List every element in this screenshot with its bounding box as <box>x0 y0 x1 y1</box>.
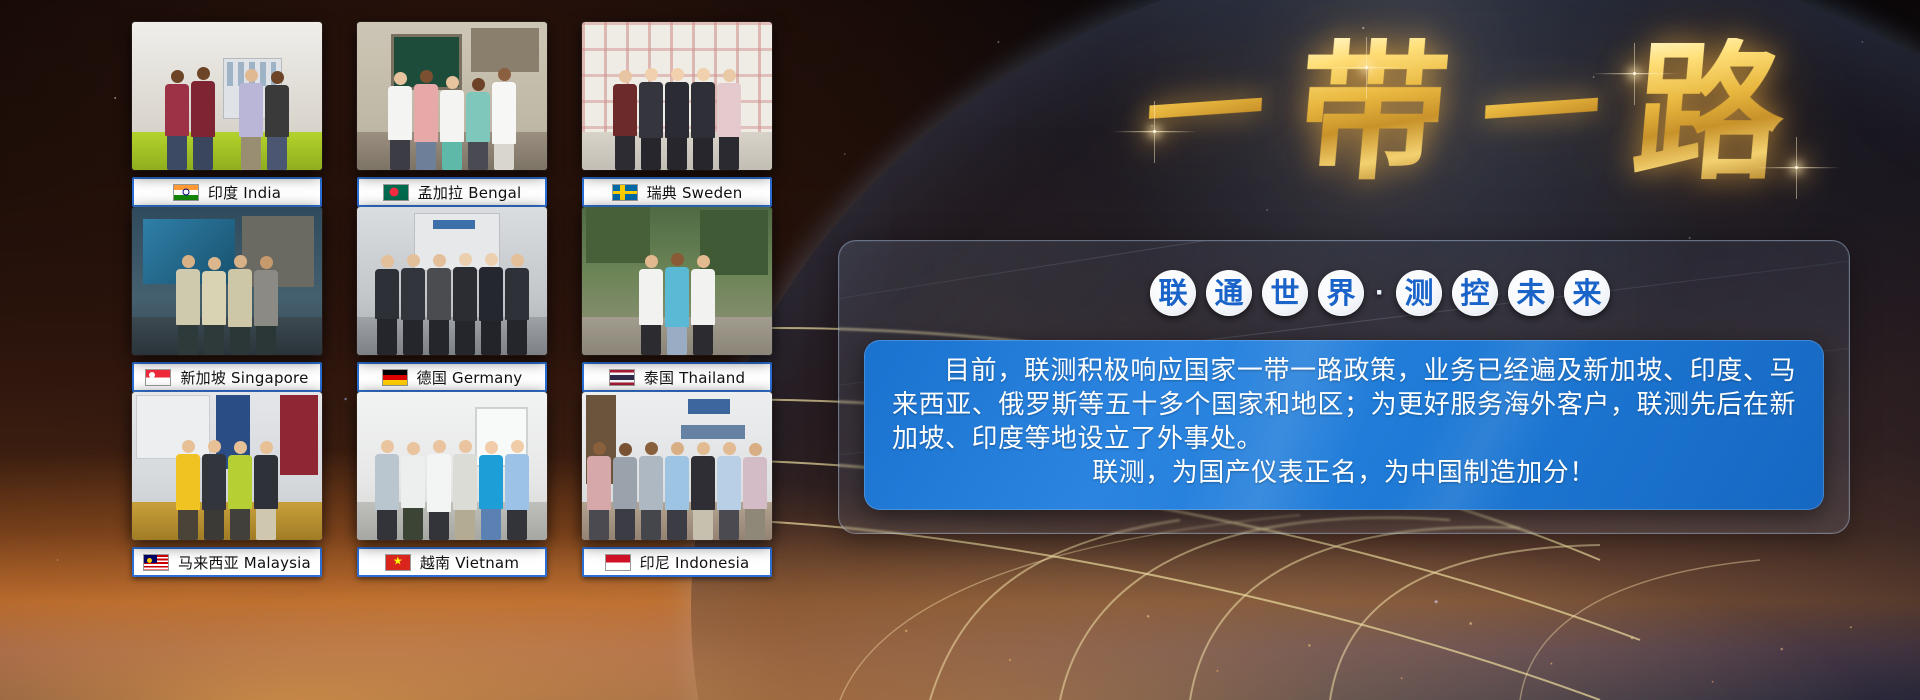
caption-malaysia: 马来西亚 Malaysia <box>132 547 322 577</box>
caption-text: 越南 Vietnam <box>420 552 519 573</box>
photo-sweden <box>582 22 772 170</box>
germany-flag <box>382 369 408 386</box>
calligraphy-title: 一 带 一 路 <box>1035 8 1895 218</box>
calligraphy-char-2: 带 <box>1291 38 1454 188</box>
gallery-item-thailand[interactable]: 泰国 Thailand <box>582 207 772 392</box>
calligraphy-char-3: 一 <box>1479 50 1604 176</box>
malaysia-flag <box>143 554 169 571</box>
gallery-item-malaysia[interactable]: 马来西亚 Malaysia <box>132 392 322 577</box>
caption-text: 马来西亚 Malaysia <box>178 552 311 573</box>
caption-germany: 德国 Germany <box>357 362 547 392</box>
slogan-char-5: 测 <box>1396 270 1442 316</box>
description-paragraph-1: 目前，联测积极响应国家一带一路政策，业务已经遍及新加坡、印度、马来西亚、俄罗斯等… <box>892 354 1796 456</box>
thailand-flag <box>609 369 635 386</box>
caption-sweden: 瑞典 Sweden <box>582 177 772 207</box>
bangladesh-flag <box>383 184 409 201</box>
photo-germany <box>357 207 547 355</box>
photo-indonesia <box>582 392 772 540</box>
caption-indonesia: 印尼 Indonesia <box>582 547 772 577</box>
slogan-separator-dot: · <box>1374 276 1386 310</box>
photo-singapore <box>132 207 322 355</box>
calligraphy-char-4: 路 <box>1627 38 1790 188</box>
indonesia-flag <box>605 554 631 571</box>
calligraphy-char-1: 一 <box>1142 50 1267 176</box>
sparkle-icon <box>1153 130 1156 133</box>
gallery-item-singapore[interactable]: 新加坡 Singapore <box>132 207 322 392</box>
caption-text: 德国 Germany <box>417 367 523 388</box>
caption-text: 瑞典 Sweden <box>647 182 743 203</box>
sparkle-icon <box>1365 66 1368 69</box>
caption-text: 印尼 Indonesia <box>640 552 750 573</box>
slogan-char-4: 界 <box>1318 270 1364 316</box>
banner-root: 印度 India 孟加拉 Be <box>0 0 1920 700</box>
vietnam-flag: ★ <box>385 554 411 571</box>
gallery-item-indonesia[interactable]: 印尼 Indonesia <box>582 392 772 577</box>
photo-bengal <box>357 22 547 170</box>
slogan-row: 联 通 世 界 · 测 控 未 来 <box>1150 262 1400 324</box>
caption-vietnam: ★ 越南 Vietnam <box>357 547 547 577</box>
caption-singapore: 新加坡 Singapore <box>132 362 322 392</box>
caption-text: 孟加拉 Bengal <box>418 182 522 203</box>
caption-text: 新加坡 Singapore <box>180 367 308 388</box>
india-flag <box>173 184 199 201</box>
gallery-item-germany[interactable]: 德国 Germany <box>357 207 547 392</box>
slogan-char-3: 世 <box>1262 270 1308 316</box>
country-gallery-grid: 印度 India 孟加拉 Be <box>132 14 772 686</box>
photo-malaysia <box>132 392 322 540</box>
caption-text: 印度 India <box>208 182 281 203</box>
gallery-item-bengal[interactable]: 孟加拉 Bengal <box>357 22 547 207</box>
gallery-item-sweden[interactable]: 瑞典 Sweden <box>582 22 772 207</box>
description-paragraph-2: 联测，为国产仪表正名，为中国制造加分！ <box>892 456 1796 490</box>
photo-thailand <box>582 207 772 355</box>
slogan-char-2: 通 <box>1206 270 1252 316</box>
caption-india: 印度 India <box>132 177 322 207</box>
slogan-char-6: 控 <box>1452 270 1498 316</box>
caption-thailand: 泰国 Thailand <box>582 362 772 392</box>
gallery-item-india[interactable]: 印度 India <box>132 22 322 207</box>
sparkle-icon <box>1633 72 1636 75</box>
singapore-flag <box>145 369 171 386</box>
sweden-flag <box>612 184 638 201</box>
photo-india <box>132 22 322 170</box>
photo-vietnam <box>357 392 547 540</box>
gallery-item-vietnam[interactable]: ★ 越南 Vietnam <box>357 392 547 577</box>
sparkle-icon <box>1795 166 1798 169</box>
description-box: 目前，联测积极响应国家一带一路政策，业务已经遍及新加坡、印度、马来西亚、俄罗斯等… <box>864 340 1824 510</box>
caption-text: 泰国 Thailand <box>644 367 745 388</box>
slogan-char-8: 来 <box>1564 270 1610 316</box>
slogan-char-1: 联 <box>1150 270 1196 316</box>
caption-bengal: 孟加拉 Bengal <box>357 177 547 207</box>
slogan-char-7: 未 <box>1508 270 1554 316</box>
